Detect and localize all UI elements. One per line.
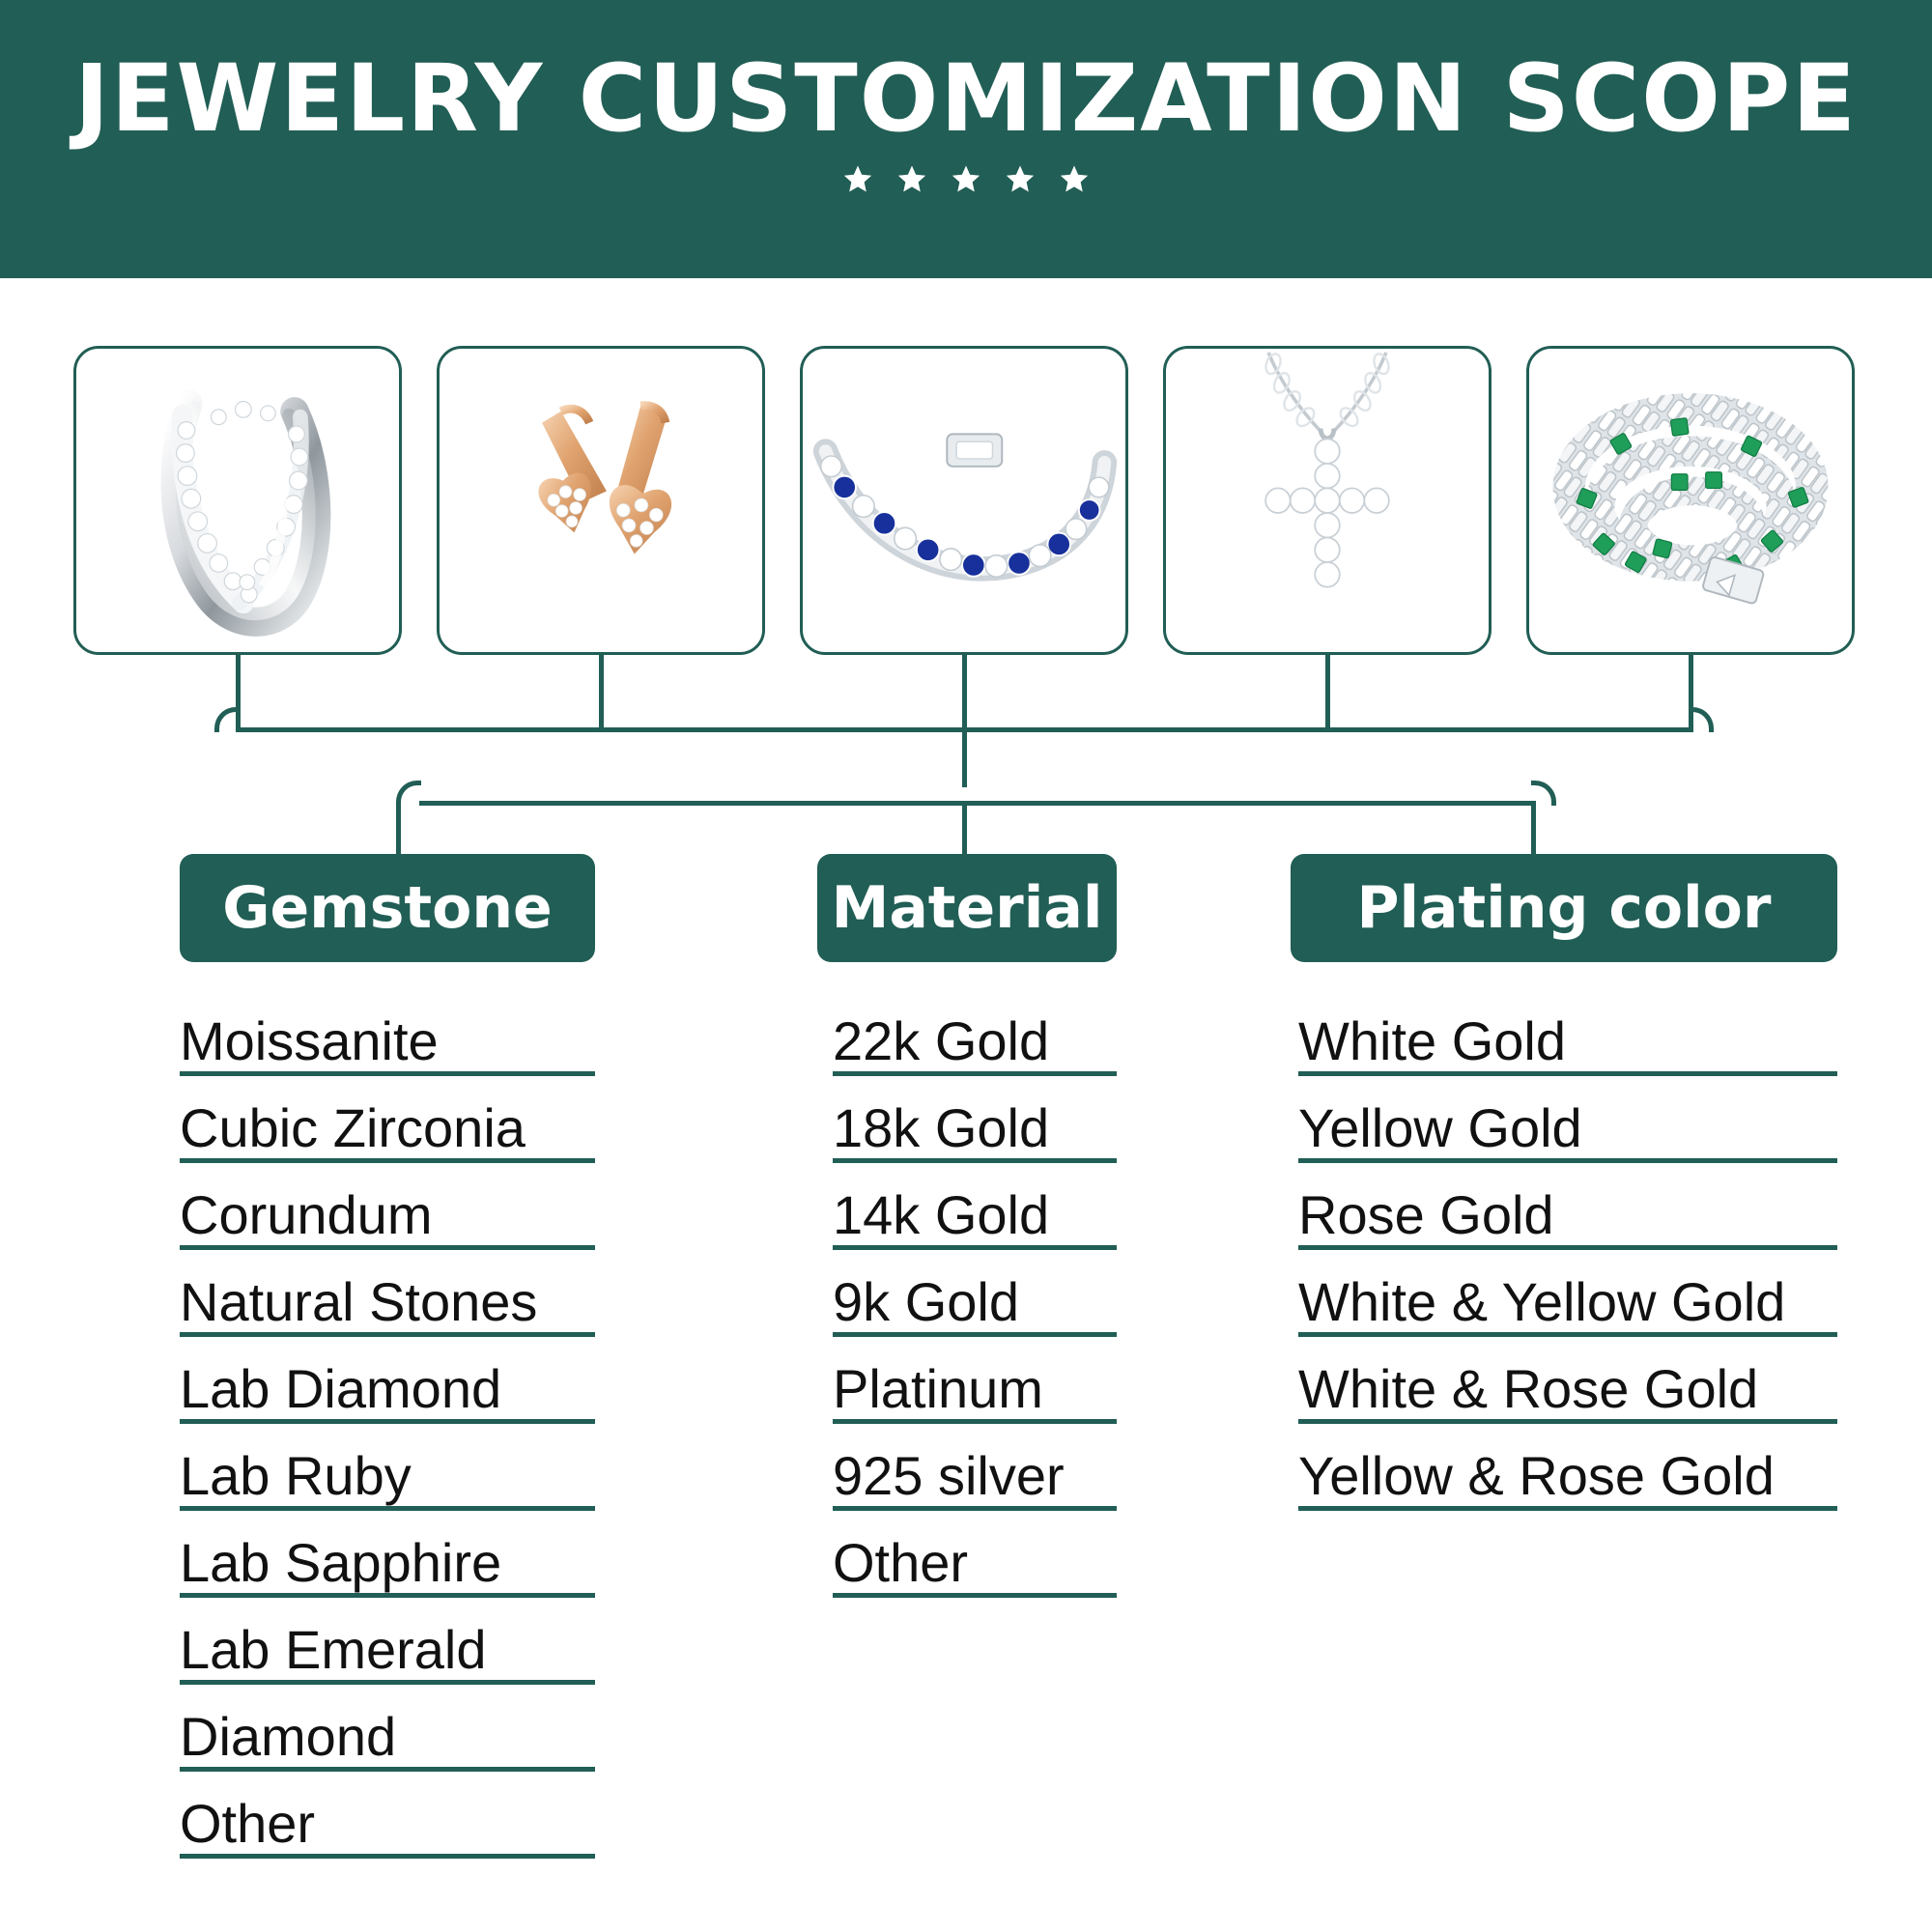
cuban-chain-icon [1529, 349, 1852, 652]
list-item-label: Yellow & Rose Gold [1298, 1448, 1775, 1504]
connector-drop-gemstone [396, 801, 401, 855]
list-item[interactable]: White Gold [1298, 989, 1837, 1076]
list-item[interactable]: White & Rose Gold [1298, 1337, 1837, 1424]
list-item-label: Lab Emerald [180, 1622, 487, 1678]
category-label-plating-color: Plating color [1357, 879, 1772, 937]
category-header-gemstone[interactable]: Gemstone [180, 854, 595, 962]
page-header: JEWELRY CUSTOMIZATION SCOPE [0, 0, 1932, 278]
list-item-label: 18k Gold [833, 1100, 1049, 1156]
category-header-material[interactable]: Material [817, 854, 1117, 962]
list-item[interactable]: Other [833, 1511, 1117, 1598]
list-item-label: Natural Stones [180, 1274, 537, 1330]
list-item-label: Lab Diamond [180, 1361, 501, 1417]
infographic-page: JEWELRY CUSTOMIZATION SCOPE [0, 0, 1932, 1932]
tennis-bracelet-icon [803, 349, 1125, 652]
list-item-label: 14k Gold [833, 1187, 1049, 1243]
connector-drop-plating [1531, 801, 1536, 855]
list-item[interactable]: Cubic Zirconia [180, 1076, 595, 1163]
list-item[interactable]: Lab Diamond [180, 1337, 595, 1424]
product-card-tennis-bracelet[interactable] [800, 346, 1128, 655]
category-header-plating-color[interactable]: Plating color [1291, 854, 1837, 962]
list-item[interactable]: Natural Stones [180, 1250, 595, 1337]
list-gemstone: Moissanite Cubic Zirconia Corundum Natur… [180, 989, 595, 1859]
list-item-label: Rose Gold [1298, 1187, 1554, 1243]
list-item[interactable]: 925 silver [833, 1424, 1117, 1511]
connector-bus2-horizontal [419, 801, 1535, 806]
category-label-material: Material [832, 879, 1103, 937]
list-item[interactable]: Yellow Gold [1298, 1076, 1837, 1163]
list-item-label: Corundum [180, 1187, 432, 1243]
product-card-cuban-chain[interactable] [1526, 346, 1855, 655]
list-item[interactable]: Rose Gold [1298, 1163, 1837, 1250]
list-item-label: Cubic Zirconia [180, 1100, 526, 1156]
cross-pendant-icon [1166, 349, 1489, 652]
list-item[interactable]: Other [180, 1772, 595, 1859]
list-item-label: Lab Sapphire [180, 1535, 501, 1591]
list-item-label: Diamond [180, 1709, 396, 1765]
connector-bus-left-corner [214, 707, 240, 732]
connector-drop-card-3 [962, 655, 967, 732]
list-item-label: 9k Gold [833, 1274, 1019, 1330]
list-item-label: White Gold [1298, 1013, 1566, 1069]
list-item-label: Moissanite [180, 1013, 439, 1069]
product-card-ring[interactable] [73, 346, 402, 655]
connector-center-stem [962, 727, 967, 787]
list-item[interactable]: Lab Ruby [180, 1424, 595, 1511]
star-icon [950, 163, 982, 196]
star-icon [895, 163, 928, 196]
page-title: JEWELRY CUSTOMIZATION SCOPE [74, 50, 1858, 148]
list-item[interactable]: White & Yellow Gold [1298, 1250, 1837, 1337]
connector-drop-card-4 [1325, 655, 1330, 732]
list-item[interactable]: 22k Gold [833, 989, 1117, 1076]
list-item-label: Platinum [833, 1361, 1043, 1417]
connector-drop-card-2 [599, 655, 604, 732]
list-item[interactable]: Moissanite [180, 989, 595, 1076]
list-item-label: Other [833, 1535, 968, 1591]
list-item-label: 925 silver [833, 1448, 1065, 1504]
list-item-label: Other [180, 1796, 315, 1852]
star-rating-decoration [841, 163, 1091, 196]
star-icon [841, 163, 874, 196]
earrings-icon [440, 349, 762, 652]
list-item-label: Yellow Gold [1298, 1100, 1582, 1156]
category-label-gemstone: Gemstone [222, 879, 552, 937]
ring-icon [76, 349, 399, 652]
list-item[interactable]: Yellow & Rose Gold [1298, 1424, 1837, 1511]
list-item[interactable]: Lab Emerald [180, 1598, 595, 1685]
list-plating-color: White Gold Yellow Gold Rose Gold White &… [1298, 989, 1837, 1511]
list-item-label: White & Rose Gold [1298, 1361, 1758, 1417]
list-item[interactable]: Lab Sapphire [180, 1511, 595, 1598]
list-item[interactable]: 18k Gold [833, 1076, 1117, 1163]
connector-drop-material [962, 801, 967, 855]
product-card-row [0, 346, 1932, 655]
list-item-label: 22k Gold [833, 1013, 1049, 1069]
product-card-cross-necklace[interactable] [1163, 346, 1492, 655]
list-material: 22k Gold 18k Gold 14k Gold 9k Gold Plati… [833, 989, 1117, 1598]
list-item[interactable]: Diamond [180, 1685, 595, 1772]
list-item[interactable]: 9k Gold [833, 1250, 1117, 1337]
product-card-earrings[interactable] [437, 346, 765, 655]
list-item[interactable]: Corundum [180, 1163, 595, 1250]
list-item[interactable]: Platinum [833, 1337, 1117, 1424]
star-icon [1058, 163, 1091, 196]
list-item-label: Lab Ruby [180, 1448, 412, 1504]
list-item[interactable]: 14k Gold [833, 1163, 1117, 1250]
list-item-label: White & Yellow Gold [1298, 1274, 1785, 1330]
star-icon [1004, 163, 1037, 196]
